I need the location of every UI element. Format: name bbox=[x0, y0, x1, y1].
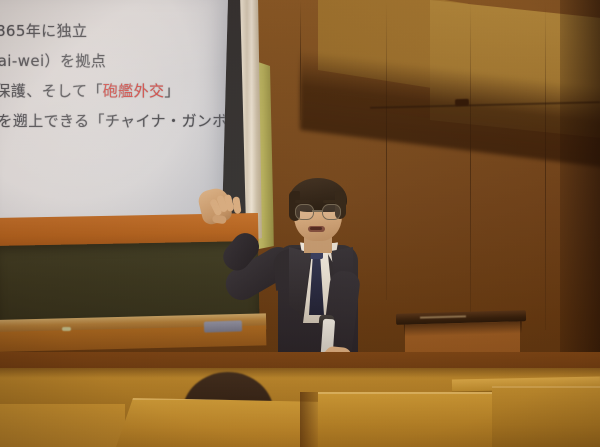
glasses-lens-right bbox=[322, 204, 341, 220]
glasses-lens-left bbox=[295, 204, 314, 220]
slide-line-3: の保護、そして「砲艦外交」 bbox=[0, 80, 180, 101]
desk-row-panel-shadow bbox=[0, 368, 600, 378]
wall-panel-seam bbox=[300, 0, 301, 120]
slide-line-2: -hai-wei）を拠点 bbox=[0, 50, 106, 71]
wall-panel-seam bbox=[545, 0, 546, 330]
slide-line-1: 1865年に独立 bbox=[0, 20, 87, 41]
chalk-piece-icon bbox=[62, 327, 71, 331]
slide-text-block: 1865年に独立 -hai-wei）を拠点 の保護、そして「砲艦外交」 川を遡上… bbox=[0, 0, 222, 162]
desk-front-left bbox=[0, 404, 125, 447]
slide-line-3-highlight: 砲艦外交 bbox=[103, 82, 165, 100]
presenter-eyebrow-left bbox=[295, 200, 310, 203]
slide-line-4: 川を遡上できる「チャイナ・ガンボート bbox=[0, 110, 258, 131]
desk-front-far-right bbox=[492, 386, 600, 447]
lecture-hall-photo: 1865年に独立 -hai-wei）を拠点 の保護、そして「砲艦外交」 川を遡上… bbox=[0, 0, 600, 447]
slide-line-3-post: 」 bbox=[164, 82, 179, 100]
desk-front-right bbox=[318, 392, 498, 447]
presenter-raised-hand bbox=[196, 186, 233, 226]
slide-line-3-pre: の保護、そして「 bbox=[0, 82, 103, 100]
glasses-icon bbox=[294, 204, 342, 218]
thumb bbox=[212, 214, 227, 224]
finger bbox=[232, 196, 241, 214]
wall-panel-seam bbox=[470, 0, 471, 330]
presenter-mouth-inner bbox=[310, 227, 322, 230]
wall-panel-seam bbox=[386, 0, 387, 300]
desk-front-center bbox=[115, 398, 325, 447]
wall-hook-icon bbox=[455, 99, 469, 106]
presenter-eyebrow-right bbox=[323, 200, 338, 203]
